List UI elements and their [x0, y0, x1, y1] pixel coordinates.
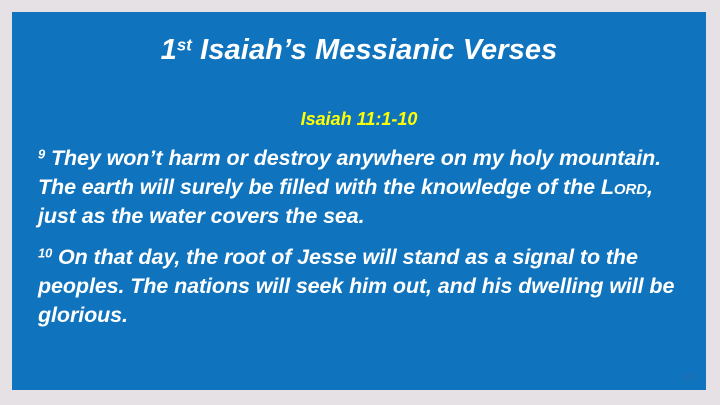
title-main-text: Isaiah’s Messianic Verses	[192, 34, 557, 66]
title-ordinal-suffix: st	[177, 35, 192, 54]
title-ordinal-number: 1	[161, 34, 177, 66]
divine-name-initial: L	[601, 175, 614, 199]
slide-root: 1st Isaiah’s Messianic Verses Isaiah 11:…	[0, 0, 720, 405]
verse-number: 10	[38, 246, 52, 261]
slide-page-number: 22	[685, 373, 695, 382]
slide-content-panel: 1st Isaiah’s Messianic Verses Isaiah 11:…	[12, 12, 706, 390]
verse-paragraph: 10 On that day, the root of Jesse will s…	[38, 243, 678, 330]
verse-paragraph: 9 They won’t harm or destroy anywhere on…	[38, 144, 678, 231]
slide-subtitle-scripture-reference: Isaiah 11:1-10	[12, 110, 706, 130]
divine-name-smallcaps: ord	[614, 175, 647, 199]
verse-text-part-1: On that day, the root of Jesse will stan…	[38, 245, 674, 327]
divine-name-lord: Lord	[601, 175, 647, 199]
verse-block: 9 They won’t harm or destroy anywhere on…	[38, 144, 678, 342]
slide-title: 1st Isaiah’s Messianic Verses	[12, 35, 706, 67]
verse-text-part-1: They won’t harm or destroy anywhere on m…	[38, 146, 661, 199]
